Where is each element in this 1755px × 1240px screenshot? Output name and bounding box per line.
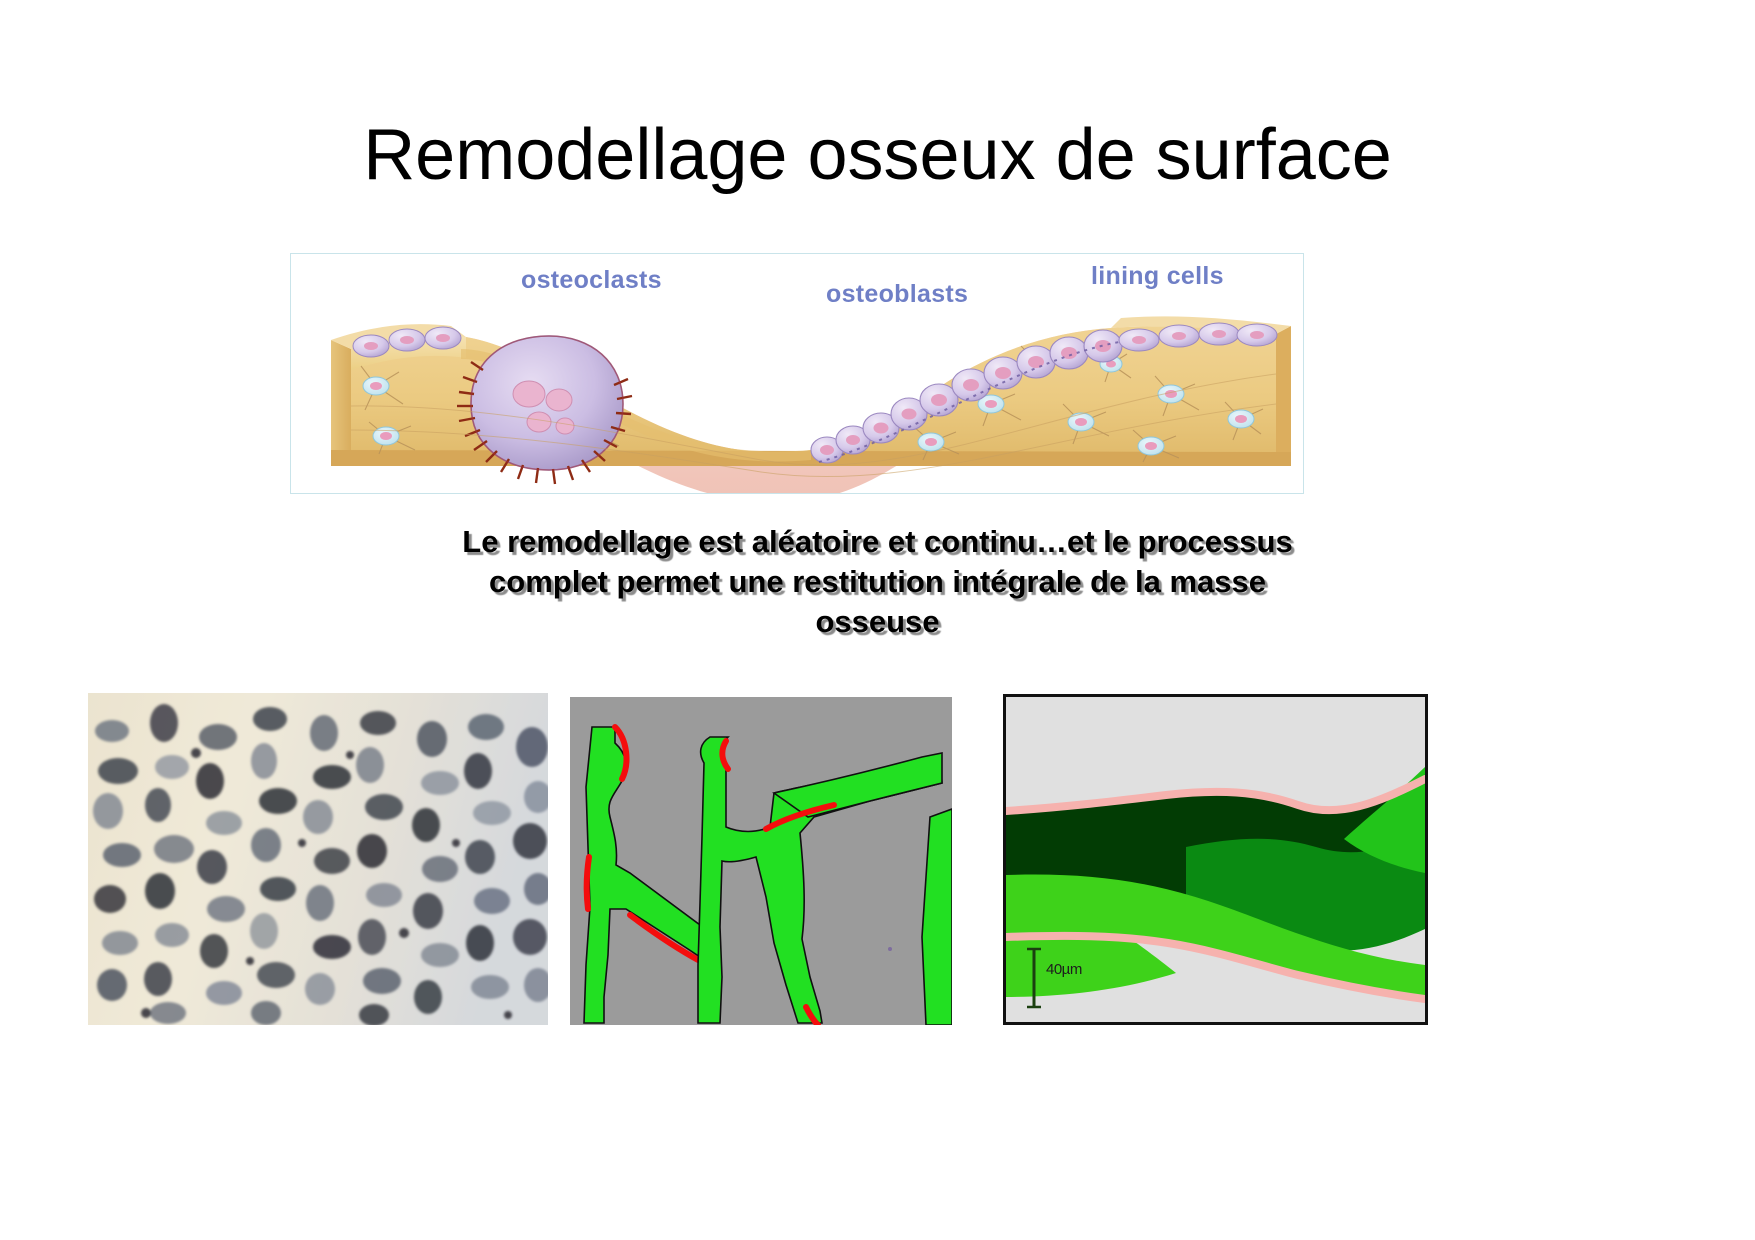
panel-trabecular-bone-micrograph — [88, 693, 548, 1025]
panel-trabecula-cross-section: 40µm — [1003, 694, 1428, 1025]
caption-line-2: complet permet une restitution intégrale… — [0, 562, 1755, 602]
resorption-site-2 — [587, 857, 589, 909]
scale-bar-label: 40µm — [1046, 961, 1082, 978]
caption-block: Le remodellage est aléatoire et continu…… — [0, 522, 1755, 642]
label-lining-cells: lining cells — [1091, 262, 1224, 291]
panel-trabecular-network-tracing — [570, 697, 952, 1025]
label-osteoclasts: osteoclasts — [521, 266, 662, 295]
caption-line-3: osseuse — [0, 602, 1755, 642]
page-title: Remodellage osseux de surface — [0, 118, 1755, 194]
bone-left-face — [331, 340, 351, 459]
trabecular-bone-image — [88, 693, 548, 1025]
caption-line-1: Le remodellage est aléatoire et continu…… — [0, 522, 1755, 562]
bone-remodelling-diagram: osteoclasts osteoblasts lining cells — [290, 253, 1304, 494]
label-osteoblasts: osteoblasts — [826, 280, 968, 309]
tracing-artifact — [888, 947, 892, 951]
trabecular-tracing-image — [570, 697, 952, 1025]
bone-right-face — [1276, 326, 1291, 459]
